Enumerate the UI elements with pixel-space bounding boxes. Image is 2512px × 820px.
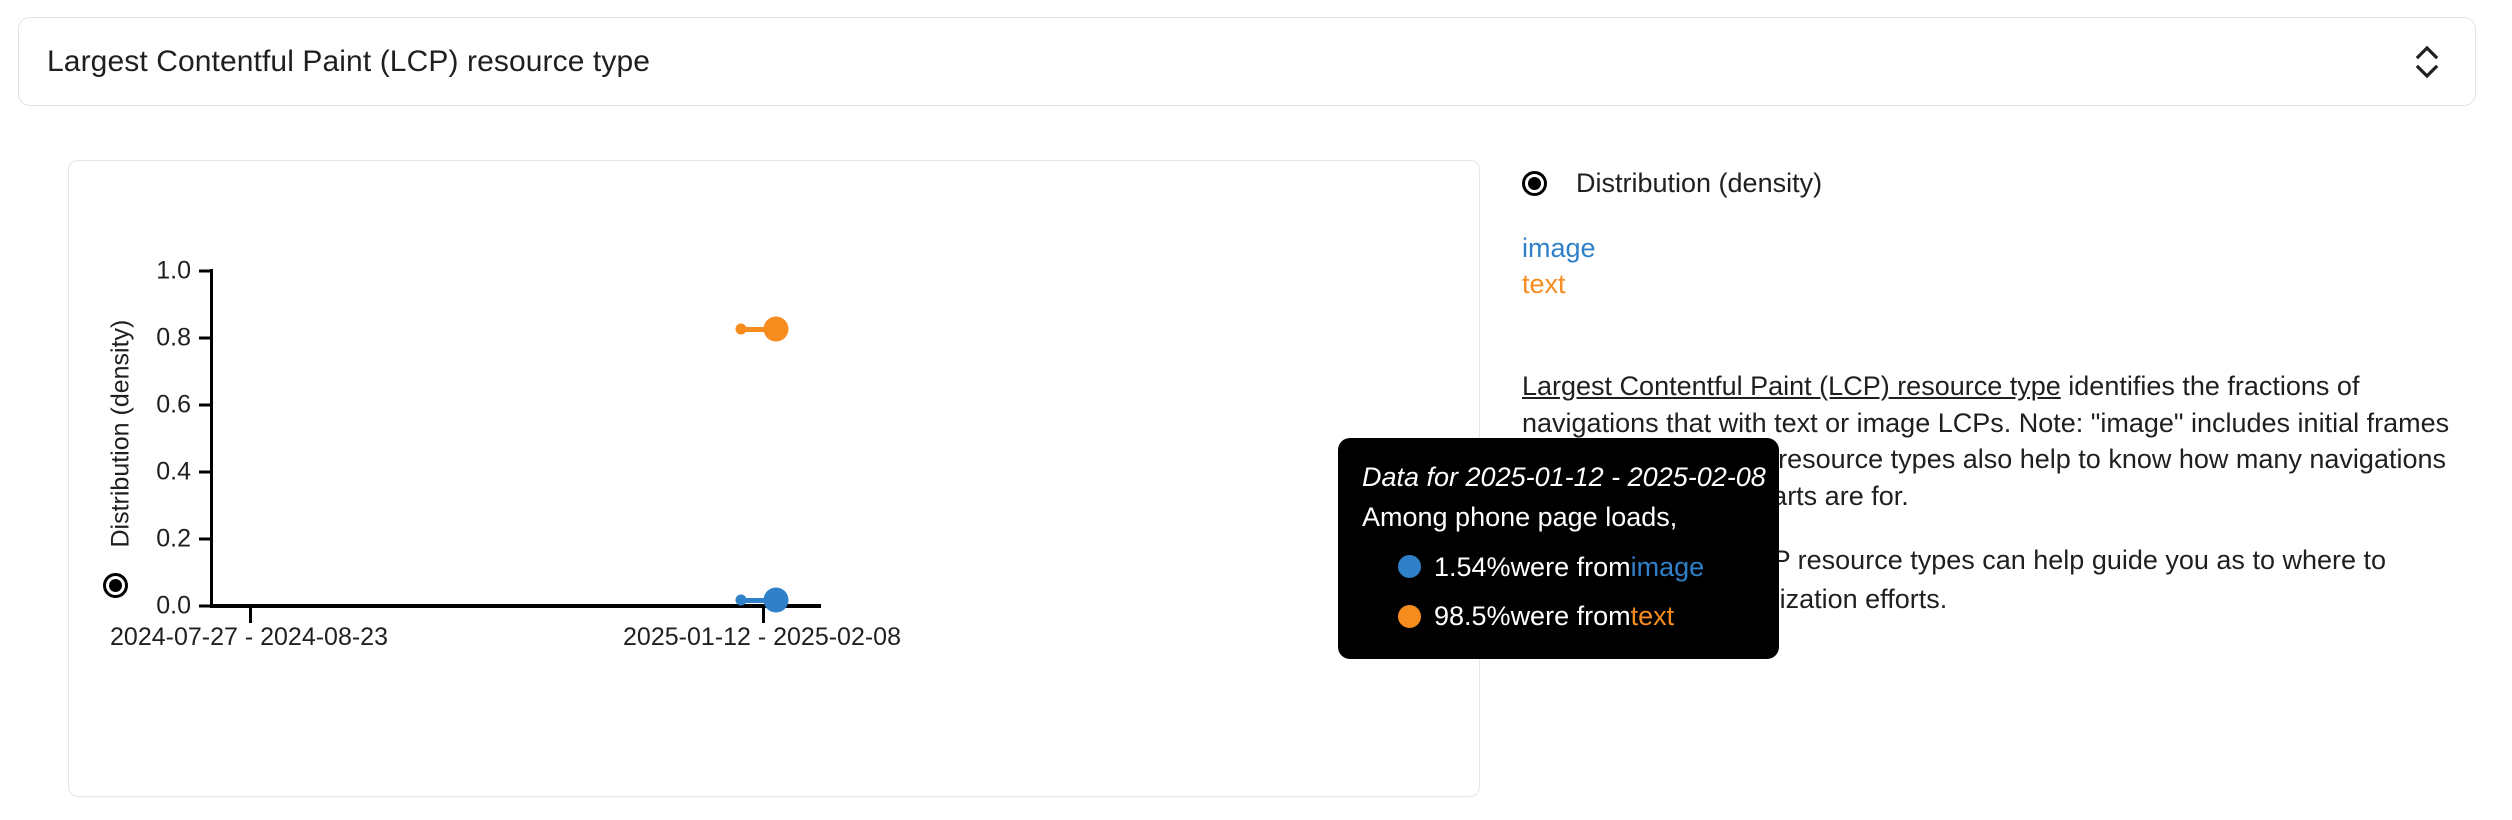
description-link[interactable]: Largest Contentful Paint (LCP) resource …: [1522, 371, 2061, 401]
data-point-image-end[interactable]: [764, 588, 789, 613]
legend-item-image[interactable]: image: [1522, 231, 1596, 267]
legend: image text: [1522, 231, 2482, 303]
x-axis-spine: [210, 604, 821, 608]
x-tick-label: 2025-01-12 - 2025-02-08: [623, 623, 901, 652]
tooltip-swatch-text-icon: [1398, 605, 1421, 628]
page-title: Largest Contentful Paint (LCP) resource …: [47, 45, 650, 79]
tooltip-swatch-image-icon: [1398, 555, 1421, 578]
tooltip-middle-image: were from: [1511, 548, 1631, 586]
chart-tooltip: Data for 2025-01-12 - 2025-02-08 Among p…: [1338, 438, 1779, 659]
y-tick-mark: [199, 337, 210, 340]
chart-card[interactable]: Distribution (density) 1.0 0.8 0.6 0.4 0…: [68, 160, 1480, 797]
tooltip-title: Data for 2025-01-12 - 2025-02-08: [1362, 458, 1755, 496]
y-axis-spine: [210, 269, 213, 608]
y-tick-label: 0.2: [71, 525, 191, 554]
x-tick-mark: [762, 608, 765, 623]
legend-item-text[interactable]: text: [1522, 267, 1566, 303]
tooltip-value-image: 1.54%: [1434, 548, 1511, 586]
tooltip-series-text: text: [1631, 597, 1675, 635]
metric-selector-distribution[interactable]: Distribution (density): [1522, 168, 2482, 199]
x-tick-mark: [249, 608, 252, 623]
main-content: Distribution (density) 1.0 0.8 0.6 0.4 0…: [0, 106, 2512, 820]
tooltip-row: 98.5% were from text: [1362, 597, 1755, 635]
data-point-text-end[interactable]: [764, 317, 789, 342]
chart-header-panel[interactable]: Largest Contentful Paint (LCP) resource …: [18, 17, 2476, 106]
data-point-image-start[interactable]: [736, 595, 747, 606]
tooltip-row: 1.54% were from image: [1362, 548, 1755, 586]
y-axis-label: Distribution (density): [107, 328, 136, 548]
y-tick-label: 0.4: [71, 458, 191, 487]
plot-area[interactable]: Distribution (density) 1.0 0.8 0.6 0.4 0…: [69, 161, 1479, 796]
radio-selected-icon[interactable]: [1522, 171, 1547, 196]
tooltip-middle-text: were from: [1511, 597, 1631, 635]
y-tick-mark: [199, 471, 210, 474]
y-tick-mark: [199, 404, 210, 407]
y-tick-mark: [199, 605, 210, 608]
y-tick-label: 0.6: [71, 391, 191, 420]
y-tick-mark: [199, 270, 210, 273]
y-tick-label: 0.0: [71, 592, 191, 621]
y-tick-label: 0.8: [71, 324, 191, 353]
y-tick-mark: [199, 538, 210, 541]
y-tick-label: 1.0: [71, 257, 191, 286]
x-tick-label: 2024-07-27 - 2024-08-23: [110, 623, 388, 652]
tooltip-series-image: image: [1631, 548, 1705, 586]
chevron-up-down-icon[interactable]: [2405, 32, 2449, 92]
metric-selector-label: Distribution (density): [1576, 168, 1822, 199]
tooltip-value-text: 98.5%: [1434, 597, 1511, 635]
tooltip-subtitle: Among phone page loads,: [1362, 498, 1755, 536]
data-point-text-start[interactable]: [736, 324, 747, 335]
